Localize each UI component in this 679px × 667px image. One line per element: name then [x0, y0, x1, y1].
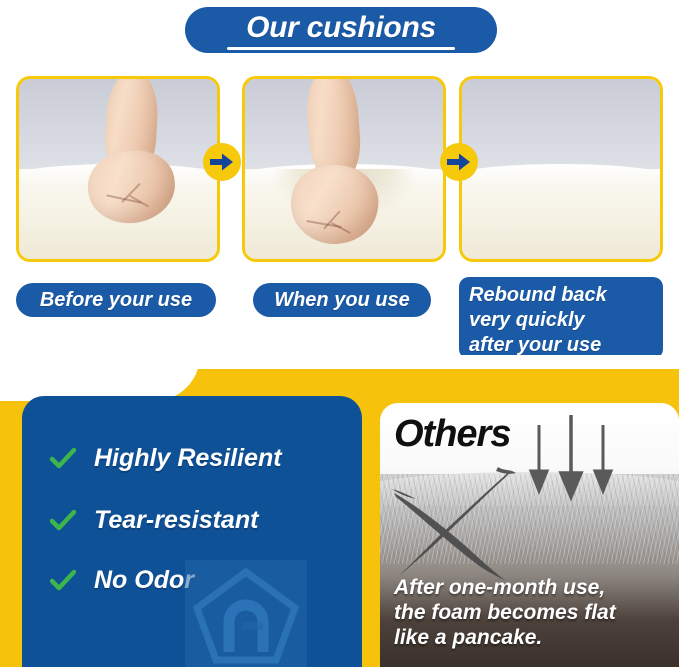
yellow-top-white-strip: [180, 355, 679, 369]
step-caption-3: Rebound back very quickly after your use: [459, 277, 663, 359]
others-caption: After one-month use, the foam becomes fl…: [394, 575, 664, 650]
check-icon: [50, 510, 76, 532]
feature-item-3-label: No Odor: [94, 566, 194, 595]
right-arrow-icon: [203, 143, 241, 181]
others-title: Others: [394, 413, 510, 456]
step-caption-1-label: Before your use: [40, 289, 192, 312]
check-icon: [50, 570, 76, 592]
right-arrow-glyph: [210, 152, 234, 172]
right-arrow-glyph: [447, 152, 471, 172]
step-caption-2-label: When you use: [274, 289, 410, 312]
fist-resting-on-foam-photo: [19, 79, 217, 259]
step-photo-2: [242, 76, 446, 262]
down-arrow-icon: [592, 425, 614, 497]
recovered-flat-foam-photo: [462, 79, 660, 259]
check-icon: [50, 448, 76, 470]
fist-pressing-into-foam-photo: [245, 79, 443, 259]
feature-item-2: Tear-resistant: [50, 506, 258, 535]
title-underline: [227, 47, 455, 50]
step-photo-3: [459, 76, 663, 262]
step-caption-3-line-1: Rebound back: [469, 283, 607, 308]
feature-item-1-label: Highly Resilient: [94, 444, 282, 473]
feature-item-1: Highly Resilient: [50, 444, 282, 473]
right-arrow-icon: [440, 143, 478, 181]
down-arrow-icon: [558, 415, 584, 503]
step-caption-1: Before your use: [16, 283, 216, 317]
others-caption-line-2: the foam becomes flat: [394, 600, 664, 625]
page-title-badge: Our cushions: [185, 7, 497, 53]
feature-item-3: No Odor: [50, 566, 194, 595]
pentagon-house-logo-watermark: [185, 560, 307, 667]
step-photo-1: [16, 76, 220, 262]
step-caption-3-line-2: very quickly: [469, 308, 585, 333]
others-caption-line-1: After one-month use,: [394, 575, 664, 600]
photo-background-wall: [462, 79, 660, 173]
step-caption-2: When you use: [253, 283, 431, 317]
down-arrow-icon: [528, 425, 550, 497]
page-title: Our cushions: [246, 13, 436, 43]
foam-edge: [459, 164, 663, 189]
feature-item-2-label: Tear-resistant: [94, 506, 258, 535]
others-caption-line-3: like a pancake.: [394, 625, 664, 650]
yellow-corner-curve: [0, 355, 200, 401]
brush-x-mark-icon: [386, 465, 531, 585]
